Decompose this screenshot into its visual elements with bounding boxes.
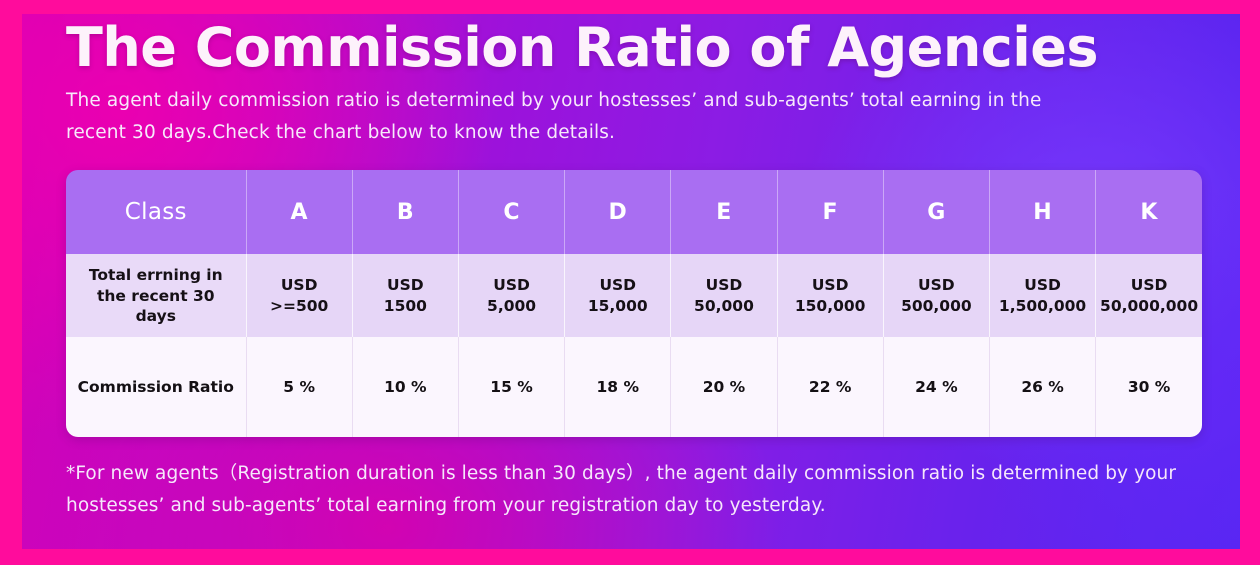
ratio-cell-f: 22 % — [777, 337, 883, 437]
earning-cell-a: USD >=500 — [246, 254, 352, 337]
earning-currency-c: USD — [459, 275, 564, 295]
earning-cell-d: USD 15,000 — [565, 254, 671, 337]
ratio-cell-e: 20 % — [671, 337, 777, 437]
page-title: The Commission Ratio of Agencies — [66, 20, 1218, 77]
earning-currency-a: USD — [247, 275, 352, 295]
earning-value-d: 15,000 — [565, 296, 670, 316]
earning-cell-c: USD 5,000 — [458, 254, 564, 337]
earning-cell-g: USD 500,000 — [883, 254, 989, 337]
commission-table-wrapper: Class A B C D E F G H K — [66, 170, 1202, 437]
ratio-cell-h: 26 % — [989, 337, 1095, 437]
earning-currency-b: USD — [353, 275, 458, 295]
header-class-a: A — [246, 170, 352, 254]
earning-value-c: 5,000 — [459, 296, 564, 316]
earning-cell-e: USD 50,000 — [671, 254, 777, 337]
earning-currency-h: USD — [990, 275, 1095, 295]
ratio-cell-d: 18 % — [565, 337, 671, 437]
earning-currency-d: USD — [565, 275, 670, 295]
page-subtitle: The agent daily commission ratio is dete… — [66, 85, 1076, 149]
earning-currency-f: USD — [778, 275, 883, 295]
earning-value-f: 150,000 — [778, 296, 883, 316]
earning-value-a: >=500 — [247, 296, 352, 316]
earning-cell-k: USD 50,000,000 — [1096, 254, 1202, 337]
header-class-c: C — [458, 170, 564, 254]
pink-frame: The Commission Ratio of Agencies The age… — [0, 0, 1260, 565]
header-class-label: Class — [66, 170, 246, 254]
ratio-cell-a: 5 % — [246, 337, 352, 437]
ratio-cell-b: 10 % — [352, 337, 458, 437]
footnote-text: *For new agents（Registration duration is… — [66, 458, 1218, 522]
earning-value-g: 500,000 — [884, 296, 989, 316]
ratio-cell-k: 30 % — [1096, 337, 1202, 437]
ratio-cell-c: 15 % — [458, 337, 564, 437]
earning-value-e: 50,000 — [671, 296, 776, 316]
table-row-commission-ratio: Commission Ratio 5 % 10 % 15 % 18 % 20 %… — [66, 337, 1202, 437]
earning-value-b: 1500 — [353, 296, 458, 316]
commission-table: Class A B C D E F G H K — [66, 170, 1202, 437]
ratio-cell-g: 24 % — [883, 337, 989, 437]
earning-value-h: 1,500,000 — [990, 296, 1095, 316]
earning-currency-e: USD — [671, 275, 776, 295]
earning-cell-h: USD 1,500,000 — [989, 254, 1095, 337]
content-area: The Commission Ratio of Agencies The age… — [22, 14, 1240, 522]
header-class-g: G — [883, 170, 989, 254]
earning-value-k: 50,000,000 — [1096, 296, 1202, 316]
row-label-commission-ratio: Commission Ratio — [66, 337, 246, 437]
earning-currency-g: USD — [884, 275, 989, 295]
header-class-d: D — [565, 170, 671, 254]
header-class-k: K — [1096, 170, 1202, 254]
header-class-h: H — [989, 170, 1095, 254]
header-class-b: B — [352, 170, 458, 254]
row-label-total-earning: Total errning in the recent 30 days — [66, 254, 246, 337]
header-class-f: F — [777, 170, 883, 254]
table-header-row: Class A B C D E F G H K — [66, 170, 1202, 254]
earning-cell-f: USD 150,000 — [777, 254, 883, 337]
gradient-card: The Commission Ratio of Agencies The age… — [22, 14, 1240, 549]
table-row-total-earning: Total errning in the recent 30 days USD … — [66, 254, 1202, 337]
earning-cell-b: USD 1500 — [352, 254, 458, 337]
earning-currency-k: USD — [1096, 275, 1202, 295]
header-class-e: E — [671, 170, 777, 254]
